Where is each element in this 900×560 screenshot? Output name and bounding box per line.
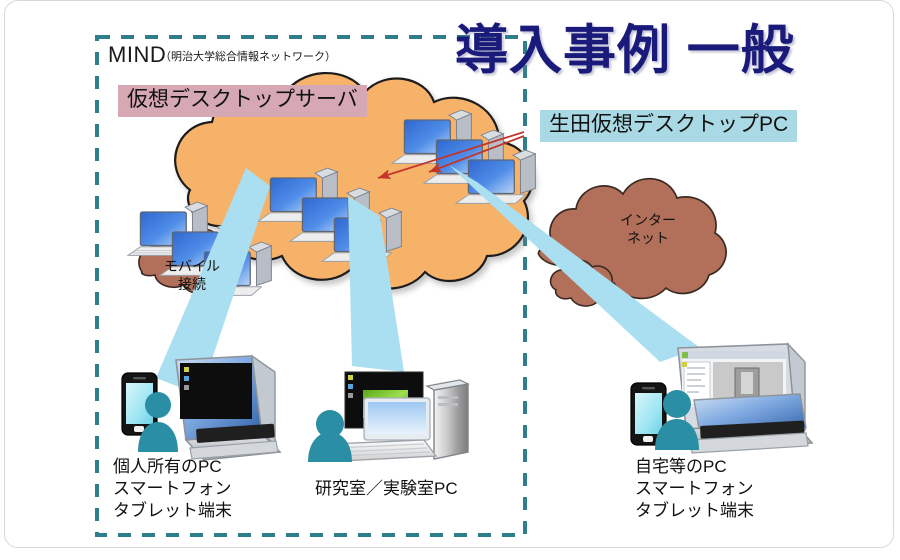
home-devices-group [631,344,812,453]
caption-home-devices: 自宅等のPC スマートフォン タブレット端末 [635,456,754,521]
lab-tower [427,380,468,459]
lab-monitor [345,372,430,450]
cloud-label-internet: インター ネット [606,212,690,248]
mind-sublabel: （明治大学総合情報ネットワーク） [160,48,336,64]
home-laptop [678,344,812,453]
lab-pc-group [308,372,468,462]
slide-root: 導入事例 一般 MIND （明治大学総合情報ネットワーク） 仮想デスクトップサー… [0,0,900,560]
caption-personal-devices: 個人所有のPC スマートフォン タブレット端末 [113,456,232,521]
mind-label: MIND [108,42,166,68]
cloud-label-mobile-connection: モバイル 接続 [150,258,234,294]
page-title: 導入事例 一般 [455,8,795,84]
tag-ikuta-virtual-desktop-pc: 生田仮想デスクトップPC [540,110,797,142]
personal-devices-group [122,356,280,460]
personal-laptop [176,356,280,460]
caption-lab-pc: 研究室／実験室PC [315,478,458,500]
tag-virtual-desktop-server: 仮想デスクトップサーバ [118,85,367,117]
diagram-artboard: 導入事例 一般 MIND （明治大学総合情報ネットワーク） 仮想デスクトップサー… [0,0,900,560]
